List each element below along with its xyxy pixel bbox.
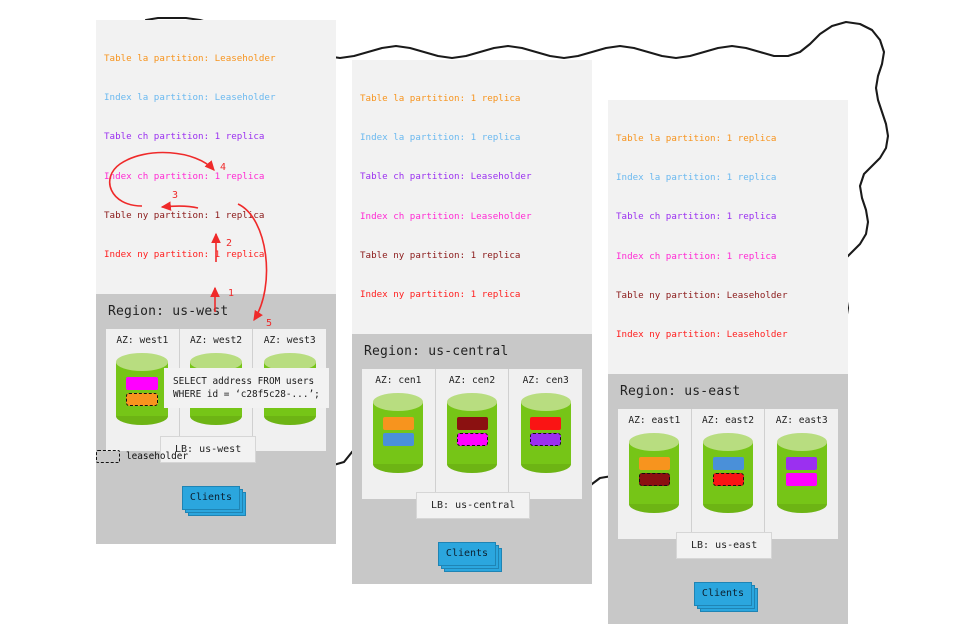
az-west1-label: AZ: west1	[106, 335, 179, 346]
node-cylinder-west1[interactable]	[116, 353, 168, 425]
clients-us-central[interactable]: Clients	[438, 542, 502, 568]
replica-block-table-ny-leaseholder[interactable]	[639, 473, 670, 486]
region-us-west: Table la partition: Leaseholder Index la…	[96, 20, 336, 544]
legend-line-table-ny: Table ny partition: 1 replica	[360, 249, 584, 262]
replica-block-index-ny[interactable]	[530, 417, 561, 430]
region-us-east-az-strip: AZ: east1 AZ: east2	[618, 409, 838, 539]
region-us-east-title: Region: us-east	[608, 374, 848, 399]
region-us-east: Table la partition: 1 replica Index la p…	[608, 100, 848, 624]
clients-label[interactable]: Clients	[438, 542, 496, 566]
legend-line-index-ny: Index ny partition: 1 replica	[104, 248, 328, 261]
cylinder-top	[447, 393, 497, 411]
node-cylinder-cen2[interactable]	[447, 393, 497, 473]
node-cylinder-east2[interactable]	[703, 433, 753, 513]
replica-block-index-ch[interactable]	[786, 473, 817, 486]
legend-line-table-la: Table la partition: 1 replica	[360, 92, 584, 105]
replica-blocks-cen1	[373, 417, 423, 446]
legend-line-table-ch: Table ch partition: 1 replica	[104, 130, 328, 143]
az-east2[interactable]: AZ: east2	[691, 409, 765, 539]
arrow-number-4: 4	[220, 162, 226, 173]
cylinder-top	[116, 353, 168, 371]
replica-block-table-ch-leaseholder[interactable]	[530, 433, 561, 446]
region-us-east-partition-legend: Table la partition: 1 replica Index la p…	[608, 100, 848, 374]
cylinder-top	[777, 433, 827, 451]
replica-block-table-la[interactable]	[383, 417, 414, 430]
sql-line-1: SELECT address FROM users	[173, 376, 314, 387]
replica-block-index-ch[interactable]	[126, 377, 158, 390]
arrow-number-3: 3	[172, 190, 178, 201]
replica-block-table-ch[interactable]	[786, 457, 817, 470]
load-balancer-us-east[interactable]: LB: us-east	[676, 532, 772, 559]
az-cen3-label: AZ: cen3	[509, 375, 582, 386]
diagram-canvas: Table la partition: Leaseholder Index la…	[0, 0, 960, 540]
arrow-number-1: 1	[228, 288, 234, 299]
az-east3[interactable]: AZ: east3	[764, 409, 838, 539]
cylinder-top	[703, 433, 753, 451]
clients-label[interactable]: Clients	[694, 582, 752, 606]
region-us-west-partition-legend: Table la partition: Leaseholder Index la…	[96, 20, 336, 294]
region-us-central-title: Region: us-central	[352, 334, 592, 359]
replica-blocks-cen2	[447, 417, 497, 446]
replica-blocks-west1	[116, 377, 168, 406]
az-cen1-label: AZ: cen1	[362, 375, 435, 386]
replica-block-table-la-leaseholder[interactable]	[126, 393, 158, 406]
legend-line-table-ch: Table ch partition: 1 replica	[616, 210, 840, 223]
cylinder-top	[373, 393, 423, 411]
az-west3-label: AZ: west3	[253, 335, 326, 346]
clients-us-east[interactable]: Clients	[694, 582, 758, 608]
node-cylinder-cen1[interactable]	[373, 393, 423, 473]
legend-line-index-ny: Index ny partition: 1 replica	[360, 288, 584, 301]
az-east2-label: AZ: east2	[692, 415, 765, 426]
node-cylinder-east1[interactable]	[629, 433, 679, 513]
az-west2-label: AZ: west2	[180, 335, 253, 346]
az-cen3[interactable]: AZ: cen3	[508, 369, 582, 499]
node-cylinder-east3[interactable]	[777, 433, 827, 513]
clients-label[interactable]: Clients	[182, 486, 240, 510]
dashed-swatch-icon	[96, 450, 120, 463]
region-us-central-body: Region: us-central AZ: cen1	[352, 334, 592, 584]
az-east1-label: AZ: east1	[618, 415, 691, 426]
sql-query-box: SELECT address FROM users WHERE id = ‘c2…	[164, 368, 329, 408]
load-balancer-us-central[interactable]: LB: us-central	[416, 492, 530, 519]
arrow-number-5: 5	[266, 318, 272, 329]
legend-line-index-la: Index la partition: 1 replica	[360, 131, 584, 144]
leaseholder-key: leaseholder	[96, 450, 188, 463]
region-us-west-title: Region: us-west	[96, 294, 336, 319]
legend-line-table-ch: Table ch partition: Leaseholder	[360, 170, 584, 183]
legend-line-index-la: Index la partition: 1 replica	[616, 171, 840, 184]
legend-line-index-la: Index la partition: Leaseholder	[104, 91, 328, 104]
legend-line-table-la: Table la partition: Leaseholder	[104, 52, 328, 65]
region-us-east-body: Region: us-east AZ: east1 A	[608, 374, 848, 624]
cylinder-top	[629, 433, 679, 451]
leaseholder-key-label: leaseholder	[126, 451, 188, 462]
az-cen2-label: AZ: cen2	[436, 375, 509, 386]
replica-blocks-cen3	[521, 417, 571, 446]
az-east3-label: AZ: east3	[765, 415, 838, 426]
region-us-central-az-strip: AZ: cen1 AZ: cen2	[362, 369, 582, 499]
az-cen2[interactable]: AZ: cen2	[435, 369, 509, 499]
az-east1[interactable]: AZ: east1	[618, 409, 691, 539]
replica-block-table-la[interactable]	[639, 457, 670, 470]
replica-blocks-east3	[777, 457, 827, 486]
replica-block-index-ny-leaseholder[interactable]	[713, 473, 744, 486]
clients-us-west[interactable]: Clients	[182, 486, 246, 512]
cylinder-top	[521, 393, 571, 411]
legend-line-index-ch: Index ch partition: 1 replica	[616, 250, 840, 263]
arrow-number-2: 2	[226, 238, 232, 249]
legend-line-table-ny: Table ny partition: 1 replica	[104, 209, 328, 222]
region-us-west-body: Region: us-west AZ: west1 A	[96, 294, 336, 544]
replica-block-index-la[interactable]	[383, 433, 414, 446]
replica-block-index-la[interactable]	[713, 457, 744, 470]
legend-line-index-ch: Index ch partition: Leaseholder	[360, 210, 584, 223]
legend-line-table-la: Table la partition: 1 replica	[616, 132, 840, 145]
region-us-central-partition-legend: Table la partition: 1 replica Index la p…	[352, 60, 592, 334]
sql-line-2: WHERE id = ‘c28f5c28-...’;	[173, 389, 320, 400]
replica-blocks-east2	[703, 457, 753, 486]
legend-line-table-ny: Table ny partition: Leaseholder	[616, 289, 840, 302]
node-cylinder-cen3[interactable]	[521, 393, 571, 473]
replica-blocks-east1	[629, 457, 679, 486]
az-cen1[interactable]: AZ: cen1	[362, 369, 435, 499]
region-us-central: Table la partition: 1 replica Index la p…	[352, 60, 592, 584]
legend-line-index-ny: Index ny partition: Leaseholder	[616, 328, 840, 341]
legend-line-index-ch: Index ch partition: 1 replica	[104, 170, 328, 183]
replica-block-table-ny[interactable]	[457, 417, 488, 430]
replica-block-index-ch-leaseholder[interactable]	[457, 433, 488, 446]
